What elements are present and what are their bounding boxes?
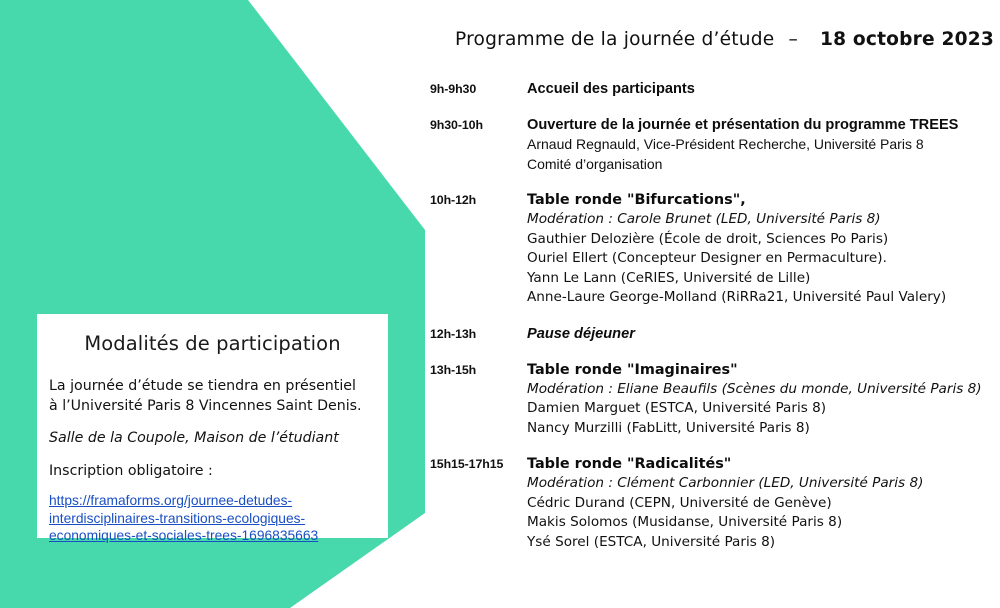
schedule-slot: 10h-12hTable ronde "Bifurcations",Modéra… [430, 191, 1000, 308]
slot-title: Table ronde "Imaginaires" [527, 361, 1000, 380]
slot-time: 15h15-17h15 [430, 455, 527, 471]
programme-header-dash: – [774, 29, 812, 50]
spacer-2 [47, 449, 378, 462]
schedule-slot: 13h-15hTable ronde "Imaginaires"Modérati… [430, 361, 1000, 439]
participation-line-2: à l’Université Paris 8 Vincennes Saint D… [49, 397, 378, 417]
slot-speaker: Anne-Laure George-Molland (RiRRa21, Univ… [527, 288, 1000, 308]
slot-title: Table ronde "Radicalités" [527, 455, 1000, 474]
participation-card: Modalités de participation La journée d’… [37, 314, 388, 538]
registration-link-line-3[interactable]: economiques-et-sociales-trees-1696835663 [49, 527, 378, 545]
slot-body: Pause déjeuner [527, 325, 1000, 344]
schedule-slot: 9h30-10hOuverture de la journée et prése… [430, 116, 1000, 174]
poster-canvas: Modalités de participation La journée d’… [0, 0, 1000, 608]
slot-speaker: Comité d’organisation [527, 155, 1000, 175]
spacer-1 [47, 416, 378, 429]
slot-time: 9h30-10h [430, 116, 527, 132]
slot-time: 12h-13h [430, 325, 527, 341]
slot-title: Table ronde "Bifurcations", [527, 191, 1000, 210]
slot-time: 10h-12h [430, 191, 527, 207]
programme-header-date: 18 octobre 2023 [812, 29, 994, 50]
slot-time: 13h-15h [430, 361, 527, 377]
schedule-slot: 9h-9h30Accueil des participants [430, 80, 1000, 99]
slot-title: Pause déjeuner [527, 325, 1000, 344]
slot-body: Table ronde "Bifurcations",Modération : … [527, 191, 1000, 308]
slot-speaker: Damien Marguet (ESTCA, Université Paris … [527, 399, 1000, 419]
slot-speaker: Cédric Durand (CEPN, Université de Genèv… [527, 494, 1000, 514]
slot-speaker: Yann Le Lann (CeRIES, Université de Lill… [527, 269, 1000, 289]
slot-time: 9h-9h30 [430, 80, 527, 96]
slot-moderator: Modération : Eliane Beaufils (Scènes du … [527, 380, 1000, 400]
slot-speaker: Makis Solomos (Musidanse, Université Par… [527, 513, 1000, 533]
slot-body: Table ronde "Radicalités"Modération : Cl… [527, 455, 1000, 552]
schedule-slot: 12h-13hPause déjeuner [430, 325, 1000, 344]
participation-line-1: La journée d’étude se tiendra en présent… [49, 377, 378, 397]
slot-body: Ouverture de la journée et présentation … [527, 116, 1000, 174]
slot-title: Ouverture de la journée et présentation … [527, 116, 1000, 135]
slot-body: Accueil des participants [527, 80, 1000, 99]
slot-speaker: Arnaud Regnauld, Vice-Président Recherch… [527, 135, 1000, 155]
registration-link[interactable]: https://framaforms.org/journee-detudes- … [47, 492, 378, 545]
programme-column: Programme de la journée d’étude–18 octob… [430, 0, 1000, 608]
registration-link-line-2[interactable]: interdisciplinaires-transitions-ecologiq… [49, 510, 378, 528]
slot-body: Table ronde "Imaginaires"Modération : El… [527, 361, 1000, 439]
participation-venue: Salle de la Coupole, Maison de l’étudian… [49, 429, 378, 449]
slot-speaker: Gauthier Delozière (École de droit, Scie… [527, 230, 1000, 250]
slot-moderator: Modération : Clément Carbonnier (LED, Un… [527, 474, 1000, 494]
participation-registration-label: Inscription obligatoire : [49, 462, 378, 482]
slot-title: Accueil des participants [527, 80, 1000, 99]
programme-header-title: Programme de la journée d’étude [455, 29, 774, 50]
slot-speaker: Nancy Murzilli (FabLitt, Université Pari… [527, 419, 1000, 439]
slot-speaker: Ouriel Ellert (Concepteur Designer en Pe… [527, 249, 1000, 269]
schedule-slot: 15h15-17h15Table ronde "Radicalités"Modé… [430, 455, 1000, 552]
slot-speaker: Ysé Sorel (ESTCA, Université Paris 8) [527, 533, 1000, 553]
registration-link-line-1[interactable]: https://framaforms.org/journee-detudes- [49, 492, 378, 510]
schedule-list: 9h-9h30Accueil des participants9h30-10hO… [430, 80, 1000, 569]
participation-card-title: Modalités de participation [47, 332, 378, 355]
programme-header: Programme de la journée d’étude–18 octob… [455, 29, 994, 50]
slot-moderator: Modération : Carole Brunet (LED, Univers… [527, 210, 1000, 230]
